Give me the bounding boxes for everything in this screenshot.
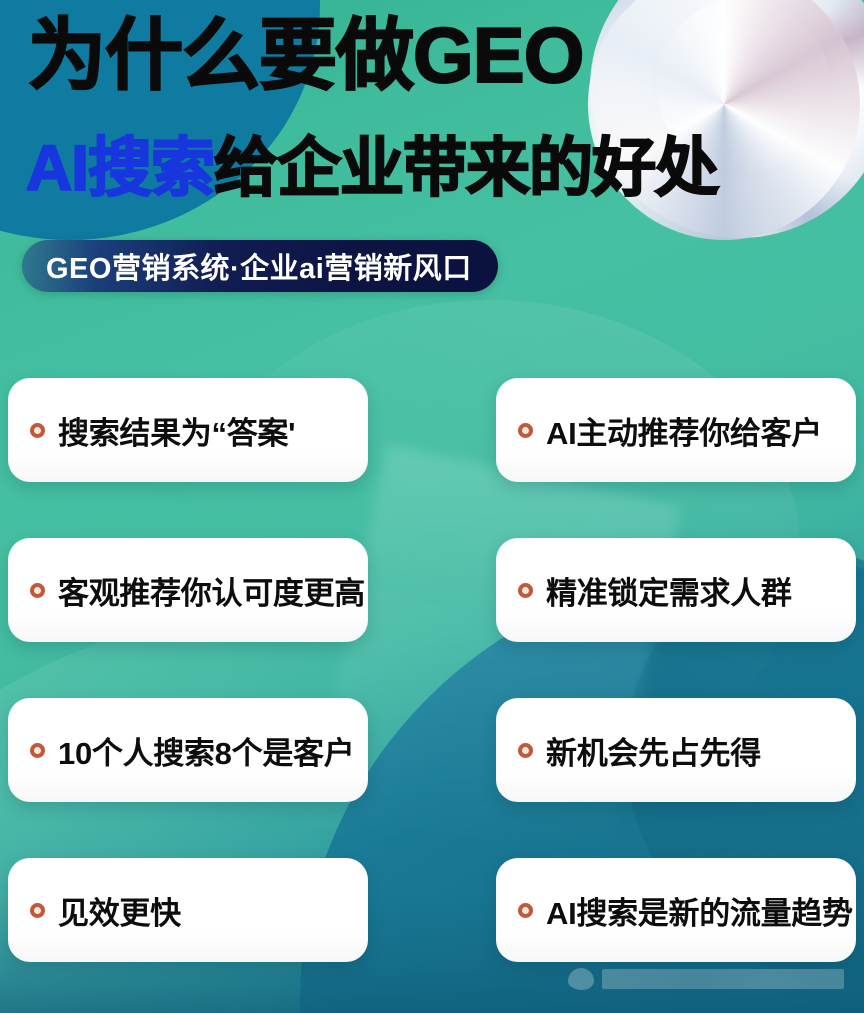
benefit-label: AI主动推荐你给客户 (546, 408, 822, 453)
ring-bullet-icon (518, 423, 533, 438)
ring-bullet-icon (30, 903, 45, 918)
page-title-line2-rest: 给企业带来的好处 (214, 132, 718, 204)
ring-bullet-icon (518, 583, 533, 598)
benefit-card[interactable]: 搜索结果为“答案' (8, 378, 368, 482)
benefit-label: 新机会先占先得 (546, 728, 761, 773)
benefit-label: 客观推荐你认可度更高 (58, 568, 365, 613)
benefit-label: 见效更快 (58, 888, 181, 933)
benefit-label: 搜索结果为“答案' (58, 408, 295, 453)
benefit-label: 精准锁定需求人群 (546, 568, 792, 613)
benefit-card[interactable]: 精准锁定需求人群 (496, 538, 856, 642)
benefit-card[interactable]: 见效更快 (8, 858, 368, 962)
page-title-highlight: AI搜索 (26, 132, 214, 204)
ring-bullet-icon (30, 743, 45, 758)
ring-bullet-icon (30, 583, 45, 598)
benefit-label: 10个人搜索8个是客户 (58, 728, 354, 773)
subtitle-badge: GEO营销系统·企业ai营销新风口 (22, 240, 498, 292)
benefit-card[interactable]: 新机会先占先得 (496, 698, 856, 802)
benefit-label: AI搜索是新的流量趋势 (546, 888, 853, 933)
watermark-logo-icon (568, 968, 594, 990)
ring-bullet-icon (518, 903, 533, 918)
poster-root: 为什么要做GEO AI搜索给企业带来的好处 GEO营销系统·企业ai营销新风口 … (0, 0, 864, 1013)
benefit-card[interactable]: 10个人搜索8个是客户 (8, 698, 368, 802)
page-title-line1: 为什么要做GEO (28, 16, 583, 94)
page-title-line2: AI搜索给企业带来的好处 (26, 136, 718, 200)
ring-bullet-icon (30, 423, 45, 438)
benefit-card[interactable]: AI主动推荐你给客户 (496, 378, 856, 482)
watermark (568, 962, 844, 996)
benefit-card[interactable]: AI搜索是新的流量趋势 (496, 858, 856, 962)
watermark-text (602, 969, 844, 989)
benefit-card[interactable]: 客观推荐你认可度更高 (8, 538, 368, 642)
benefits-grid: 搜索结果为“答案' AI主动推荐你给客户 客观推荐你认可度更高 精准锁定需求人群… (0, 378, 864, 962)
ring-bullet-icon (518, 743, 533, 758)
